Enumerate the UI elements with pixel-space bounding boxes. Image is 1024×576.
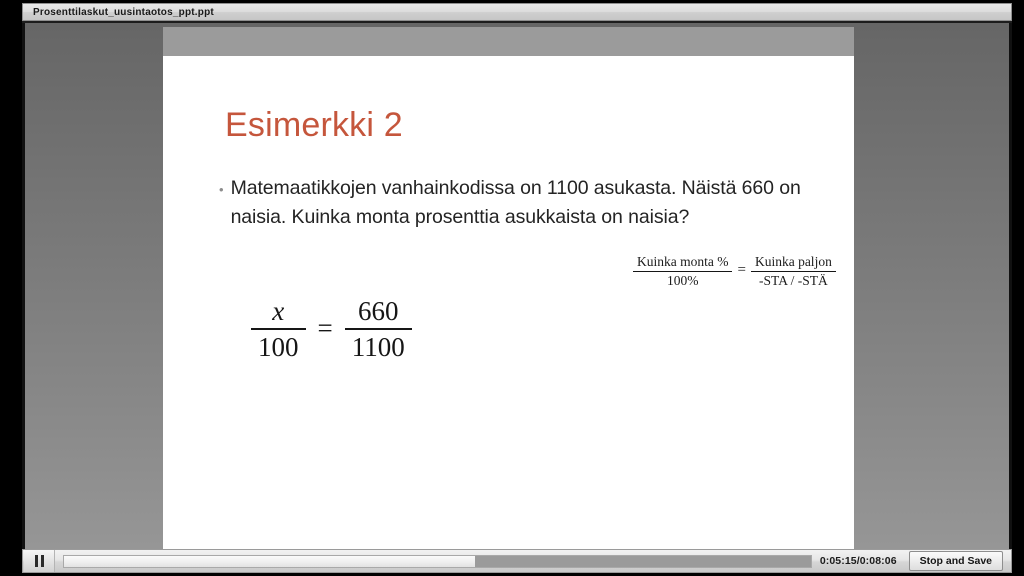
slide-body-text: Matemaatikkojen vanhainkodissa on 1100 a… bbox=[231, 174, 829, 232]
screen-root: Prosenttilaskut_uusintaotos_ppt.ppt Esim… bbox=[0, 0, 1024, 576]
slide-bullet-item: • Matemaatikkojen vanhainkodissa on 1100… bbox=[219, 174, 829, 232]
window-title: Prosenttilaskut_uusintaotos_ppt.ppt bbox=[23, 7, 214, 18]
main-equation-right-fraction: 660 1100 bbox=[345, 296, 412, 362]
reference-formula-left-bar bbox=[633, 271, 732, 272]
reference-formula-left-numerator: Kuinka monta % bbox=[633, 254, 732, 270]
progress-scrubber[interactable] bbox=[63, 555, 812, 568]
main-equation-right-denominator: 1100 bbox=[345, 332, 412, 362]
presentation-slide: Esimerkki 2 • Matemaatikkojen vanhainkod… bbox=[163, 56, 854, 549]
bullet-point-icon: • bbox=[219, 183, 224, 196]
main-equation-left-denominator: 100 bbox=[251, 332, 306, 362]
main-equation-operator: = bbox=[318, 313, 333, 346]
reference-formula-right-numerator: Kuinka paljon bbox=[751, 254, 836, 270]
slide-title: Esimerkki 2 bbox=[225, 106, 403, 145]
slide-top-band bbox=[163, 27, 854, 56]
progress-fill bbox=[64, 556, 475, 567]
reference-formula-operator: = bbox=[737, 262, 745, 281]
reference-formula-right-denominator: -STA / -STÄ bbox=[755, 273, 832, 289]
main-equation-left-bar bbox=[251, 328, 306, 330]
reference-formula-left-denominator: 100% bbox=[663, 273, 703, 289]
reference-formula-left-fraction: Kuinka monta % 100% bbox=[633, 254, 732, 289]
main-equation-left-fraction: x 100 bbox=[251, 296, 306, 362]
slide-viewer: Esimerkki 2 • Matemaatikkojen vanhainkod… bbox=[22, 23, 1012, 549]
reference-formula-right-bar bbox=[751, 271, 836, 272]
main-equation: x 100 = 660 1100 bbox=[251, 296, 412, 362]
recorder-window: Prosenttilaskut_uusintaotos_ppt.ppt Esim… bbox=[22, 3, 1012, 573]
reference-formula: Kuinka monta % 100% = Kuinka paljon -STA… bbox=[633, 254, 836, 289]
pause-bar-right bbox=[41, 555, 44, 567]
reference-formula-right-fraction: Kuinka paljon -STA / -STÄ bbox=[751, 254, 836, 289]
window-titlebar: Prosenttilaskut_uusintaotos_ppt.ppt bbox=[22, 3, 1012, 21]
main-equation-left-numerator: x bbox=[265, 296, 291, 326]
main-equation-right-bar bbox=[345, 328, 412, 330]
player-control-bar: 0:05:15/0:08:06 Stop and Save bbox=[22, 549, 1012, 573]
playback-timestamp: 0:05:15/0:08:06 bbox=[820, 555, 897, 567]
pause-bar-left bbox=[35, 555, 38, 567]
pause-icon[interactable] bbox=[24, 550, 55, 572]
main-equation-right-numerator: 660 bbox=[351, 296, 406, 326]
stop-and-save-button[interactable]: Stop and Save bbox=[909, 551, 1003, 571]
